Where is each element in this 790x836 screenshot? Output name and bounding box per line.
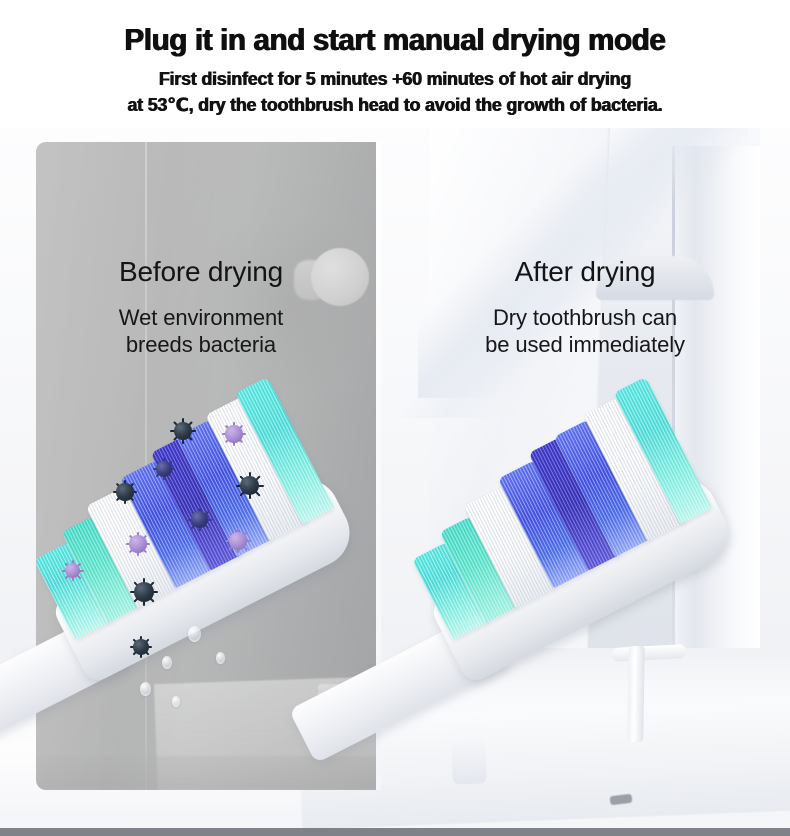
header-block: Plug it in and start manual drying mode … [0, 0, 790, 128]
after-caption-line-1: Dry toothbrush can [420, 305, 750, 331]
bottom-bar [0, 828, 790, 836]
after-caption-line-2: be used immediately [420, 332, 750, 358]
bacteria-particle [113, 480, 137, 504]
page-title: Plug it in and start manual drying mode [18, 24, 772, 57]
bacteria-particle [222, 422, 246, 446]
before-caption-line-1: Wet environment [56, 305, 346, 331]
water-droplet [140, 682, 151, 696]
subtitle-line-1: First disinfect for 5 minutes +60 minute… [14, 66, 776, 92]
water-droplet [216, 652, 225, 664]
water-droplet [188, 626, 201, 642]
bacteria-particle [236, 472, 263, 499]
toothbrush-before-drying [20, 400, 350, 700]
bacteria-particle [225, 528, 250, 553]
page-subtitle: First disinfect for 5 minutes +60 minute… [14, 66, 776, 117]
before-caption: Wet environment breeds bacteria [56, 305, 346, 358]
bacteria-particle [188, 508, 211, 531]
bacteria-particle [170, 418, 196, 444]
bacteria-particle [130, 636, 152, 658]
after-label-group: After drying Dry toothbrush can be used … [420, 256, 750, 358]
bacteria-particle [62, 560, 83, 581]
promo-page: Plug it in and start manual drying mode … [0, 0, 790, 836]
bacteria-particle [153, 458, 175, 480]
bacteria-particle [130, 578, 158, 606]
water-droplet [162, 656, 172, 669]
bacteria-particle [126, 532, 150, 556]
panel-bottom-strip [36, 756, 378, 790]
before-heading: Before drying [56, 256, 346, 287]
after-caption: Dry toothbrush can be used immediately [420, 305, 750, 358]
subtitle-line-2: at 53℃, dry the toothbrush head to avoid… [14, 92, 776, 118]
before-caption-line-2: breeds bacteria [56, 332, 346, 358]
after-heading: After drying [420, 256, 750, 287]
comparison-photo: Before drying Wet environment breeds bac… [0, 128, 790, 828]
toothbrush-after-drying [398, 400, 728, 700]
water-droplet [172, 696, 180, 707]
before-label-group: Before drying Wet environment breeds bac… [56, 256, 346, 358]
